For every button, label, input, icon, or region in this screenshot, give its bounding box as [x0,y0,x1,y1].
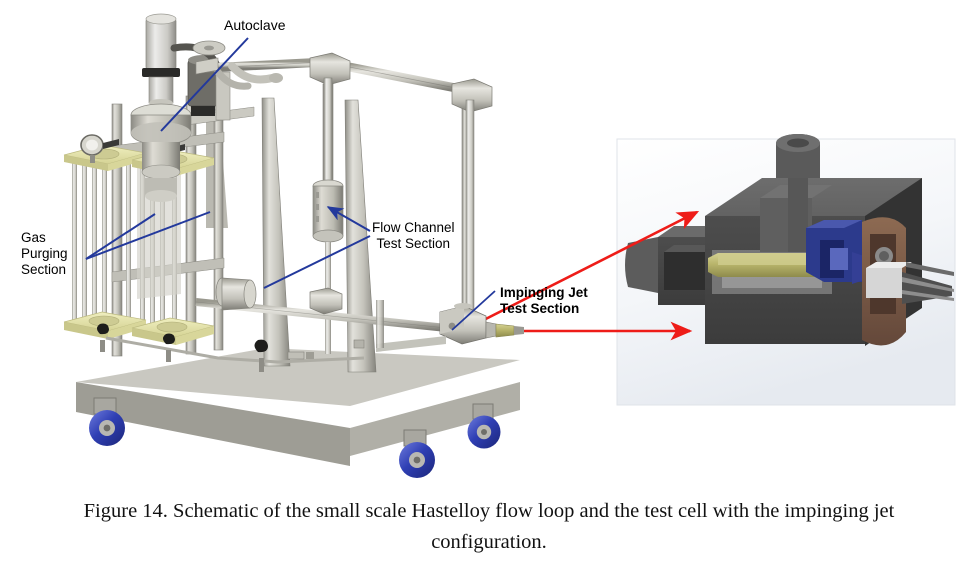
inline-fitting [288,352,314,359]
label-gas-purging-section: Gas Purging Section [21,230,68,278]
cad-cutaway-panel [617,134,955,405]
cart-base [76,348,520,466]
cad-part-valve-manifold [806,220,870,284]
figure-14-container: Autoclave Gas Purging Section Flow Chann… [0,0,978,568]
flow-channel-test-section [313,180,343,354]
figure-caption-line-1: Figure 14. Schematic of the small scale … [0,500,978,523]
flow-loop-schematic [0,0,978,568]
caster-wheel-front-right [399,430,435,478]
pipe-tee-block [310,288,342,314]
label-autoclave: Autoclave [224,17,285,34]
figure-caption-line-2: configuration. [0,531,978,554]
label-impinging-jet-test-section: Impinging Jet Test Section [500,285,588,317]
upper-piping [196,53,492,112]
label-flow-channel-test-section: Flow Channel Test Section [372,220,455,252]
inline-filter [216,278,256,310]
autoclave-motor [142,14,180,107]
